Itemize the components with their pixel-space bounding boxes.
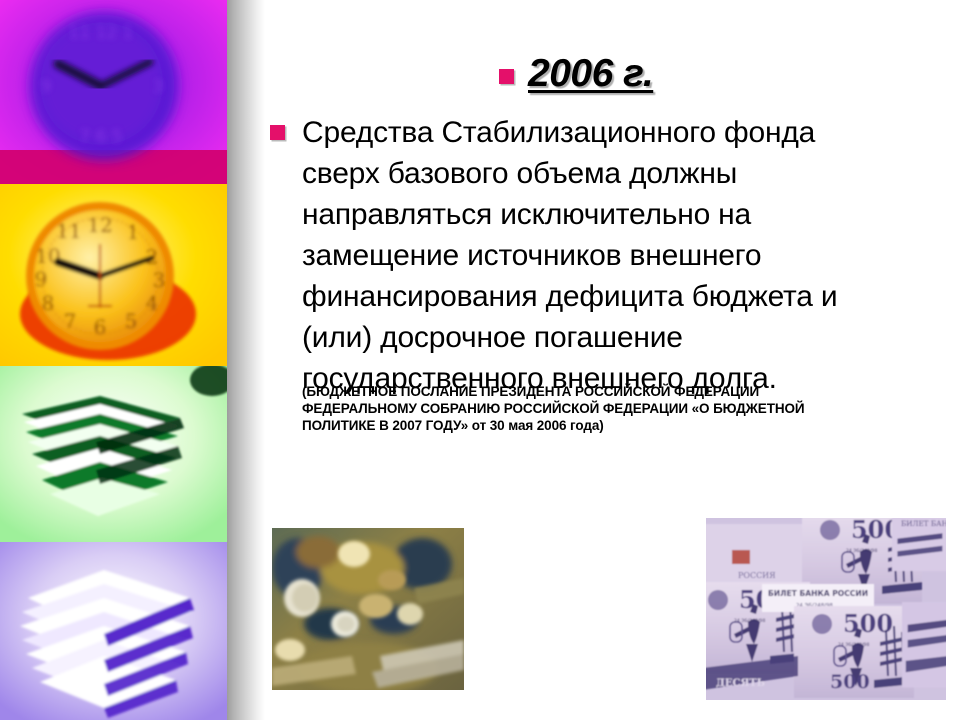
svg-text:1: 1 — [127, 220, 140, 244]
body-bullet-square-icon — [270, 125, 285, 140]
clock-yellow-image: 12 11 1 10 2 9 3 8 4 7 6 5 — [0, 184, 227, 366]
svg-text:12: 12 — [87, 213, 112, 237]
citation-line: ФЕДЕРАЛЬНОМУ СОБРАНИЮ РОССИЙСКОЙ ФЕДЕРАЦ… — [302, 400, 960, 417]
body-line: направляться исключительно на — [302, 194, 942, 235]
svg-text:8: 8 — [42, 291, 55, 315]
body-line: сверх базового объема должны — [302, 153, 942, 194]
slide-canvas: 11 12 1 9 3 7 6 5 — [0, 0, 960, 720]
papers-violet-image — [0, 542, 227, 720]
svg-text:7 6 5: 7 6 5 — [79, 127, 122, 147]
svg-text:5: 5 — [125, 309, 138, 333]
coins-photo — [272, 528, 464, 690]
banknotes-photo: 500 24 ЭБ/248/98 — [706, 518, 946, 700]
svg-text:7: 7 — [64, 309, 77, 333]
svg-text:6: 6 — [94, 315, 107, 339]
body-line: (или) досрочное погашение — [302, 317, 942, 358]
svg-text:11: 11 — [56, 219, 81, 243]
svg-text:ДЕСЯТЬ: ДЕСЯТЬ — [716, 678, 765, 689]
citation-line: ПОЛИТИКЕ В 2007 ГОДУ» от 30 мая 2006 год… — [302, 417, 960, 434]
citation-text: (БЮДЖЕТНОЕ ПОСЛАНИЕ ПРЕЗИДЕНТА РОССИЙСКО… — [302, 383, 960, 434]
svg-text:500: 500 — [830, 671, 870, 693]
strip-fade-gradient — [227, 0, 265, 720]
body-paragraph: Средства Стабилизационного фонда сверх б… — [302, 112, 942, 399]
title-bullet-square-icon — [499, 69, 514, 84]
svg-text:4: 4 — [146, 291, 159, 315]
papers-green-image — [0, 366, 227, 542]
svg-text:3: 3 — [153, 268, 166, 292]
svg-text:3: 3 — [153, 77, 164, 97]
decorative-photo-strip: 11 12 1 9 3 7 6 5 — [0, 0, 227, 720]
svg-text:9: 9 — [41, 77, 52, 97]
svg-text:БИЛЕТ БАНКА РОССИИ: БИЛЕТ БАНКА РОССИИ — [768, 589, 868, 598]
citation-line: (БЮДЖЕТНОЕ ПОСЛАНИЕ ПРЕЗИДЕНТА РОССИЙСКО… — [302, 383, 960, 400]
body-line: Средства Стабилизационного фонда — [302, 112, 942, 153]
svg-text:9: 9 — [35, 267, 48, 291]
title-row: 2006 г. — [262, 52, 960, 104]
page-title: 2006 г. — [528, 52, 653, 96]
svg-text:11 12 1: 11 12 1 — [69, 23, 134, 43]
body-line: финансирования дефицита бюджета и — [302, 276, 942, 317]
svg-text:БИЛЕТ БАНК: БИЛЕТ БАНК — [901, 519, 946, 528]
body-line: замещение источников внешнего — [302, 235, 942, 276]
clock-magenta-blur-image: 11 12 1 9 3 7 6 5 — [0, 0, 227, 184]
svg-text:РОССИЯ: РОССИЯ — [738, 571, 776, 580]
